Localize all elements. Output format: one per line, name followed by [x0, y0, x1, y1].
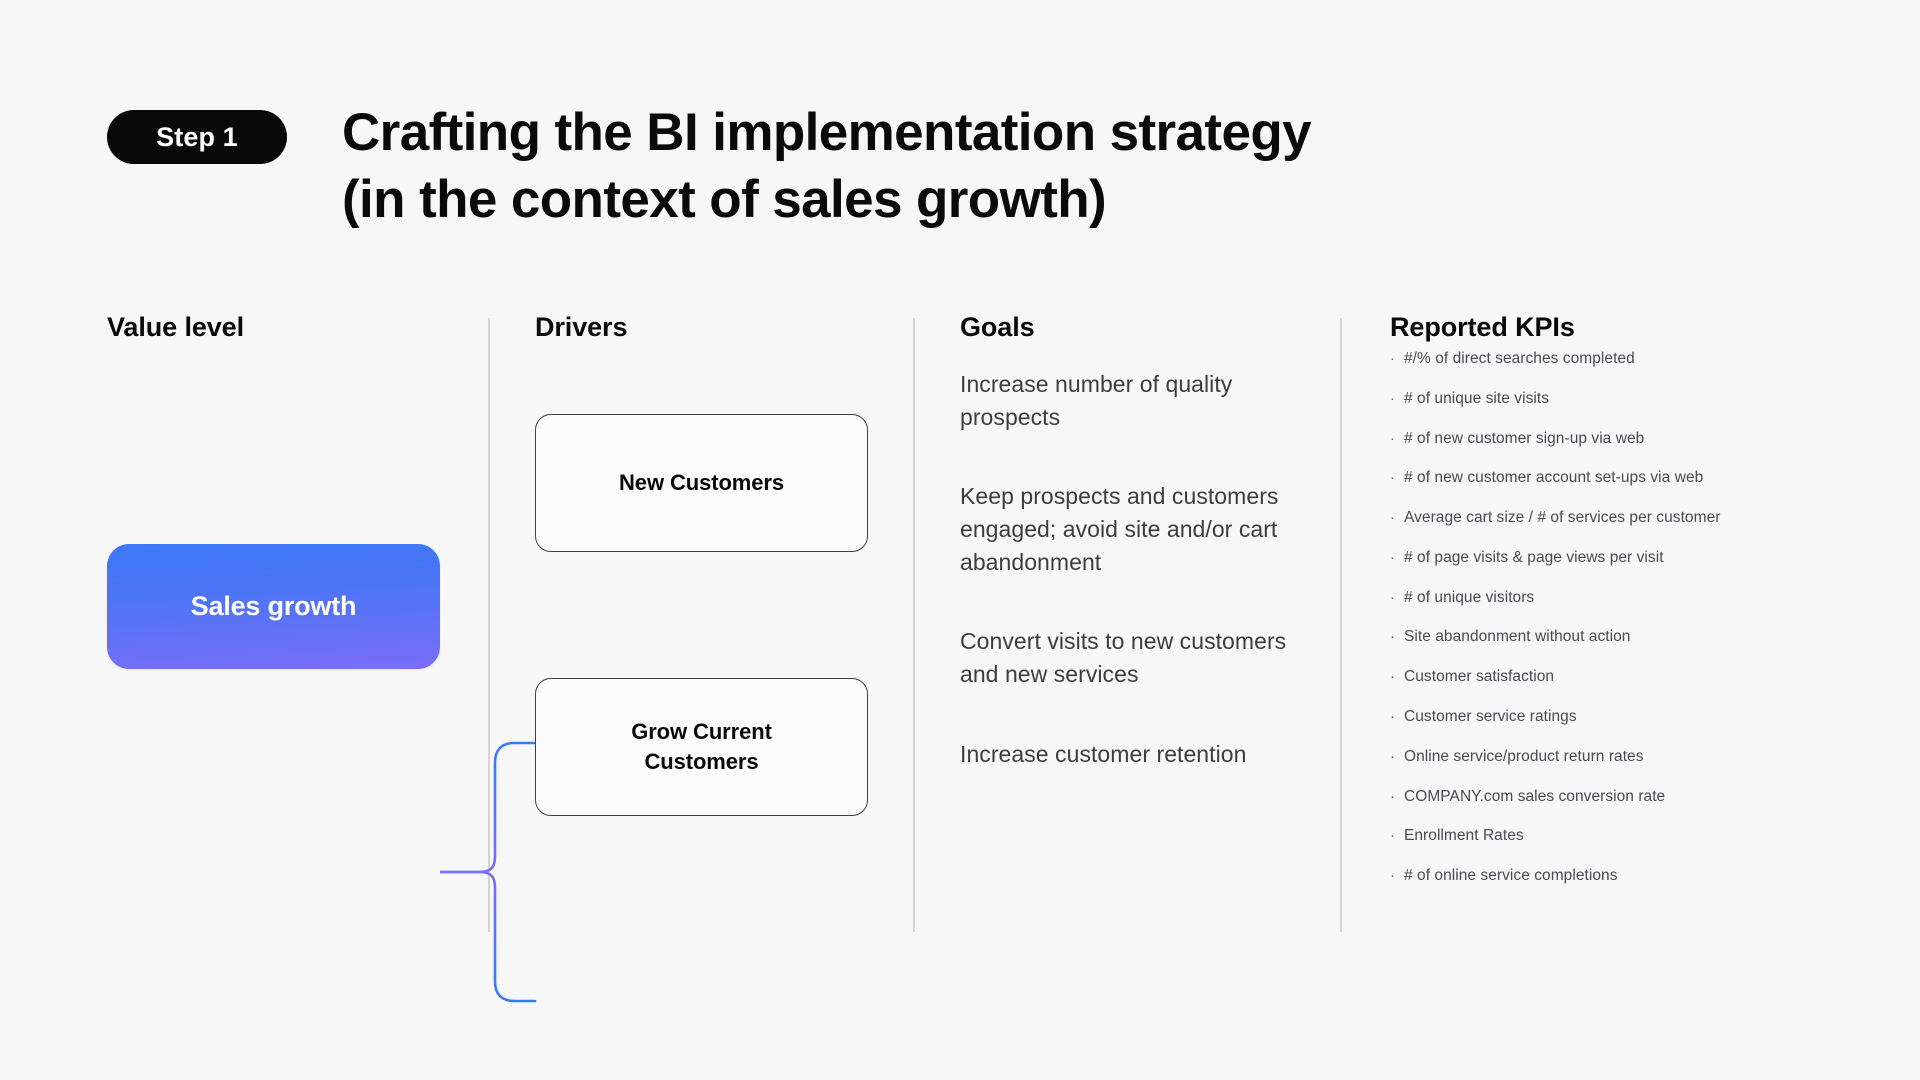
- kpi-item: ·#/% of direct searches completed: [1390, 350, 1820, 369]
- step-badge: Step 1: [107, 110, 287, 164]
- kpi-item-label: COMPANY.com sales conversion rate: [1404, 788, 1665, 807]
- kpi-item-label: # of page visits & page views per visit: [1404, 549, 1664, 568]
- title-wrapper: Crafting the BI implementation strategy …: [342, 100, 1311, 234]
- kpi-item: ·# of page visits & page views per visit: [1390, 549, 1820, 568]
- kpi-item: ·# of online service completions: [1390, 867, 1820, 886]
- kpi-item-label: Online service/product return rates: [1404, 748, 1644, 767]
- driver-box-grow-current-customers[interactable]: Grow Current Customers: [535, 678, 868, 816]
- goals-list: Increase number of quality prospects Kee…: [960, 368, 1300, 817]
- kpi-item: ·COMPANY.com sales conversion rate: [1390, 788, 1820, 807]
- bullet-icon: ·: [1390, 827, 1404, 845]
- node-sales-growth[interactable]: Sales growth: [107, 544, 440, 669]
- kpi-item-label: Enrollment Rates: [1404, 827, 1524, 846]
- kpi-list: ·#/% of direct searches completed ·# of …: [1390, 350, 1820, 907]
- bullet-icon: ·: [1390, 350, 1404, 368]
- kpi-item: ·Site abandonment without action: [1390, 628, 1820, 647]
- bullet-icon: ·: [1390, 867, 1404, 885]
- kpi-item: ·Customer service ratings: [1390, 708, 1820, 727]
- kpi-item-label: Site abandonment without action: [1404, 628, 1630, 647]
- kpi-item-label: # of new customer sign-up via web: [1404, 430, 1644, 449]
- goal-item: Convert visits to new customers and new …: [960, 625, 1300, 690]
- slide-canvas: Step 1 Crafting the BI implementation st…: [0, 0, 1920, 1080]
- bullet-icon: ·: [1390, 430, 1404, 448]
- bullet-icon: ·: [1390, 469, 1404, 487]
- bullet-icon: ·: [1390, 788, 1404, 806]
- kpi-item-label: Average cart size / # of services per cu…: [1404, 509, 1720, 528]
- column-header-drivers: Drivers: [535, 312, 627, 343]
- kpi-item-label: Customer satisfaction: [1404, 668, 1554, 687]
- matrix-columns: Value level Drivers Goals Reported KPIs …: [0, 312, 1920, 932]
- kpi-item: ·# of new customer sign-up via web: [1390, 430, 1820, 449]
- goal-item: Keep prospects and customers engaged; av…: [960, 480, 1300, 578]
- node-sales-growth-label: Sales growth: [191, 591, 357, 622]
- kpi-item: ·Enrollment Rates: [1390, 827, 1820, 846]
- kpi-item: ·# of unique visitors: [1390, 589, 1820, 608]
- kpi-item: ·Average cart size / # of services per c…: [1390, 509, 1820, 528]
- column-header-value-level: Value level: [107, 312, 244, 343]
- bullet-icon: ·: [1390, 549, 1404, 567]
- kpi-item: ·# of new customer account set-ups via w…: [1390, 469, 1820, 488]
- driver-label: New Customers: [619, 468, 784, 498]
- column-header-reported-kpis: Reported KPIs: [1390, 312, 1575, 343]
- kpi-item-label: # of online service completions: [1404, 867, 1618, 886]
- goal-item: Increase customer retention: [960, 738, 1300, 771]
- kpi-item-label: Customer service ratings: [1404, 708, 1577, 727]
- kpi-item: ·Customer satisfaction: [1390, 668, 1820, 687]
- bullet-icon: ·: [1390, 509, 1404, 527]
- divider-2: [913, 318, 915, 932]
- page-title: Crafting the BI implementation strategy …: [342, 100, 1311, 234]
- bullet-icon: ·: [1390, 748, 1404, 766]
- bullet-icon: ·: [1390, 390, 1404, 408]
- column-header-goals: Goals: [960, 312, 1035, 343]
- kpi-item-label: # of unique visitors: [1404, 589, 1534, 608]
- bullet-icon: ·: [1390, 589, 1404, 607]
- kpi-item: ·# of unique site visits: [1390, 390, 1820, 409]
- bullet-icon: ·: [1390, 628, 1404, 646]
- kpi-item-label: #/% of direct searches completed: [1404, 350, 1635, 369]
- driver-label: Grow Current Customers: [631, 717, 772, 776]
- kpi-item-label: # of unique site visits: [1404, 390, 1549, 409]
- slide-header: Step 1 Crafting the BI implementation st…: [107, 100, 1311, 234]
- divider-3: [1340, 318, 1342, 932]
- bullet-icon: ·: [1390, 668, 1404, 686]
- kpi-item: ·Online service/product return rates: [1390, 748, 1820, 767]
- kpi-item-label: # of new customer account set-ups via we…: [1404, 469, 1703, 488]
- driver-box-new-customers[interactable]: New Customers: [535, 414, 868, 552]
- goal-item: Increase number of quality prospects: [960, 368, 1300, 433]
- bullet-icon: ·: [1390, 708, 1404, 726]
